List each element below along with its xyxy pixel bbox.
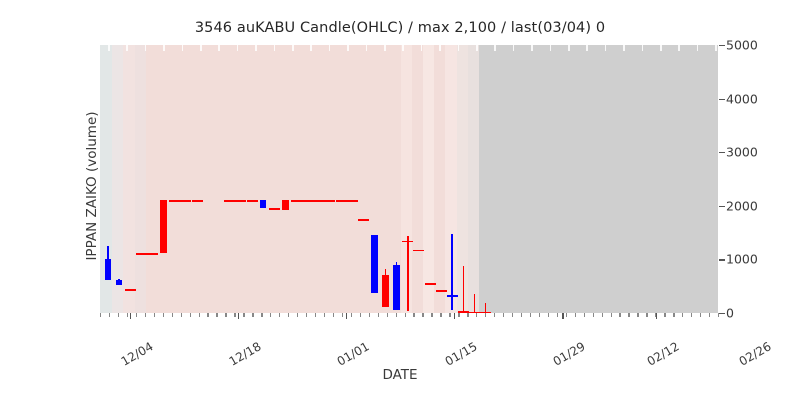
- x-minor-tick: [691, 313, 692, 317]
- x-minor-tick: [118, 313, 119, 317]
- y-tick-label: 3000: [726, 145, 758, 160]
- x-minor-tick: [172, 313, 173, 317]
- candle-flat-tick: [313, 200, 324, 202]
- x-minor-tick: [467, 313, 468, 317]
- x-tick-mark: [562, 313, 563, 319]
- x-minor-tick: [646, 313, 647, 317]
- x-minor-tick: [127, 313, 128, 317]
- candle-body: [371, 235, 377, 292]
- x-minor-tick: [584, 313, 585, 317]
- x-tick-label: 02/12: [645, 339, 682, 368]
- candle-flat-tick: [291, 200, 302, 202]
- x-minor-tick: [100, 313, 101, 317]
- chart-title: 3546 auKABU Candle(OHLC) / max 2,100 / l…: [0, 20, 800, 36]
- x-tick-label: 01/15: [443, 339, 480, 368]
- x-minor-tick: [342, 313, 343, 317]
- x-minor-tick: [494, 313, 495, 317]
- x-minor-tick: [637, 313, 638, 317]
- candle-body: [116, 280, 122, 285]
- x-minor-tick: [485, 313, 486, 317]
- plot-area[interactable]: [100, 45, 718, 313]
- x-minor-tick: [216, 313, 217, 317]
- x-tick-label: 02/26: [736, 339, 773, 368]
- x-minor-tick: [593, 313, 594, 317]
- x-minor-tick: [199, 313, 200, 317]
- x-minor-tick: [602, 313, 603, 317]
- candle-flat-tick: [302, 200, 313, 202]
- x-minor-tick: [360, 313, 361, 317]
- x-tick-mark: [656, 313, 657, 319]
- candle-flat-tick: [147, 253, 158, 255]
- y-tick-mark: [719, 259, 725, 260]
- x-minor-tick: [306, 313, 307, 317]
- x-tick-mark: [454, 313, 455, 319]
- x-minor-tick: [154, 313, 155, 317]
- candle-body: [105, 259, 111, 279]
- candle-body: [382, 275, 388, 307]
- x-minor-tick: [440, 313, 441, 317]
- candle-flat-tick: [169, 200, 180, 202]
- candle-wick: [451, 234, 453, 310]
- chart-figure: 3546 auKABU Candle(OHLC) / max 2,100 / l…: [0, 0, 800, 400]
- x-minor-tick: [709, 313, 710, 317]
- x-minor-tick: [449, 313, 450, 317]
- x-minor-tick: [566, 313, 567, 317]
- x-minor-tick: [619, 313, 620, 317]
- candle-body: [282, 200, 288, 209]
- y-tick-label: 0: [726, 306, 734, 321]
- y-tick-label: 1000: [726, 252, 758, 267]
- x-minor-tick: [190, 313, 191, 317]
- x-minor-tick: [673, 313, 674, 317]
- candle-flat-tick: [413, 250, 424, 252]
- x-minor-tick: [315, 313, 316, 317]
- candle-flat-tick: [469, 312, 480, 313]
- candle-flat-tick: [436, 290, 447, 292]
- y-tick-mark: [719, 99, 725, 100]
- x-minor-tick: [413, 313, 414, 317]
- x-minor-tick: [145, 313, 146, 317]
- candle-flat-tick: [447, 295, 458, 297]
- x-minor-tick: [557, 313, 558, 317]
- candle-flat-tick: [235, 200, 246, 202]
- x-minor-tick: [324, 313, 325, 317]
- x-minor-tick: [261, 313, 262, 317]
- candle-body: [393, 265, 399, 310]
- candle-flat-tick: [336, 200, 347, 202]
- candle-flat-tick: [324, 200, 335, 202]
- x-tick-mark: [346, 313, 347, 319]
- x-minor-tick: [521, 313, 522, 317]
- x-minor-tick: [333, 313, 334, 317]
- x-tick-label: 12/04: [118, 339, 155, 368]
- candle-flat-tick: [347, 200, 358, 202]
- x-minor-tick: [503, 313, 504, 317]
- x-minor-tick: [109, 313, 110, 317]
- x-minor-tick: [288, 313, 289, 317]
- x-minor-tick: [163, 313, 164, 317]
- candle-flat-tick: [192, 200, 203, 202]
- candle-body: [260, 200, 266, 208]
- y-tick-label: 2000: [726, 198, 758, 213]
- x-minor-tick: [207, 313, 208, 317]
- x-minor-tick: [378, 313, 379, 317]
- x-tick-label: 01/01: [335, 339, 372, 368]
- x-minor-tick: [458, 313, 459, 317]
- x-minor-tick: [243, 313, 244, 317]
- candle-flat-tick: [136, 253, 147, 255]
- candle-flat-tick: [224, 200, 235, 202]
- x-minor-tick: [700, 313, 701, 317]
- x-minor-tick: [718, 313, 719, 317]
- x-minor-tick: [279, 313, 280, 317]
- candle-wick: [407, 236, 409, 311]
- x-minor-tick: [512, 313, 513, 317]
- x-minor-tick: [252, 313, 253, 317]
- x-tick-mark: [130, 313, 131, 319]
- candle-flat-tick: [425, 283, 436, 285]
- x-tick-label: 12/18: [226, 339, 263, 368]
- candle-flat-tick: [125, 289, 136, 291]
- x-minor-tick: [396, 313, 397, 317]
- x-minor-tick: [297, 313, 298, 317]
- y-tick-mark: [719, 45, 725, 46]
- y-tick-label: 4000: [726, 91, 758, 106]
- candle-wick: [463, 266, 465, 312]
- x-minor-tick: [405, 313, 406, 317]
- y-tick-mark: [719, 313, 725, 314]
- candle-flat-tick: [247, 200, 258, 202]
- x-minor-tick: [351, 313, 352, 317]
- x-minor-tick: [422, 313, 423, 317]
- x-minor-tick: [181, 313, 182, 317]
- x-minor-tick: [476, 313, 477, 317]
- x-minor-tick: [431, 313, 432, 317]
- candlestick-series: [100, 45, 718, 313]
- candle-flat-tick: [269, 208, 280, 210]
- x-minor-tick: [369, 313, 370, 317]
- y-axis-label: IPPAN ZAIKO (volume): [84, 56, 100, 316]
- x-minor-tick: [234, 313, 235, 317]
- x-minor-tick: [664, 313, 665, 317]
- x-tick-mark: [238, 313, 239, 319]
- candle-flat-tick: [402, 241, 413, 243]
- candle-body: [160, 200, 166, 253]
- x-minor-tick: [136, 313, 137, 317]
- x-minor-tick: [387, 313, 388, 317]
- x-minor-tick: [682, 313, 683, 317]
- x-minor-tick: [539, 313, 540, 317]
- x-minor-tick: [225, 313, 226, 317]
- x-tick-label: 01/29: [551, 339, 588, 368]
- y-tick-mark: [719, 152, 725, 153]
- y-tick-label: 5000: [726, 38, 758, 53]
- candle-flat-tick: [180, 200, 191, 202]
- y-tick-mark: [719, 206, 725, 207]
- candle-wick: [474, 294, 476, 313]
- candle-flat-tick: [358, 219, 369, 221]
- x-minor-tick: [270, 313, 271, 317]
- x-minor-tick: [530, 313, 531, 317]
- x-minor-tick: [548, 313, 549, 317]
- x-minor-tick: [611, 313, 612, 317]
- x-axis-label: DATE: [0, 367, 800, 383]
- x-minor-tick: [575, 313, 576, 317]
- x-minor-tick: [628, 313, 629, 317]
